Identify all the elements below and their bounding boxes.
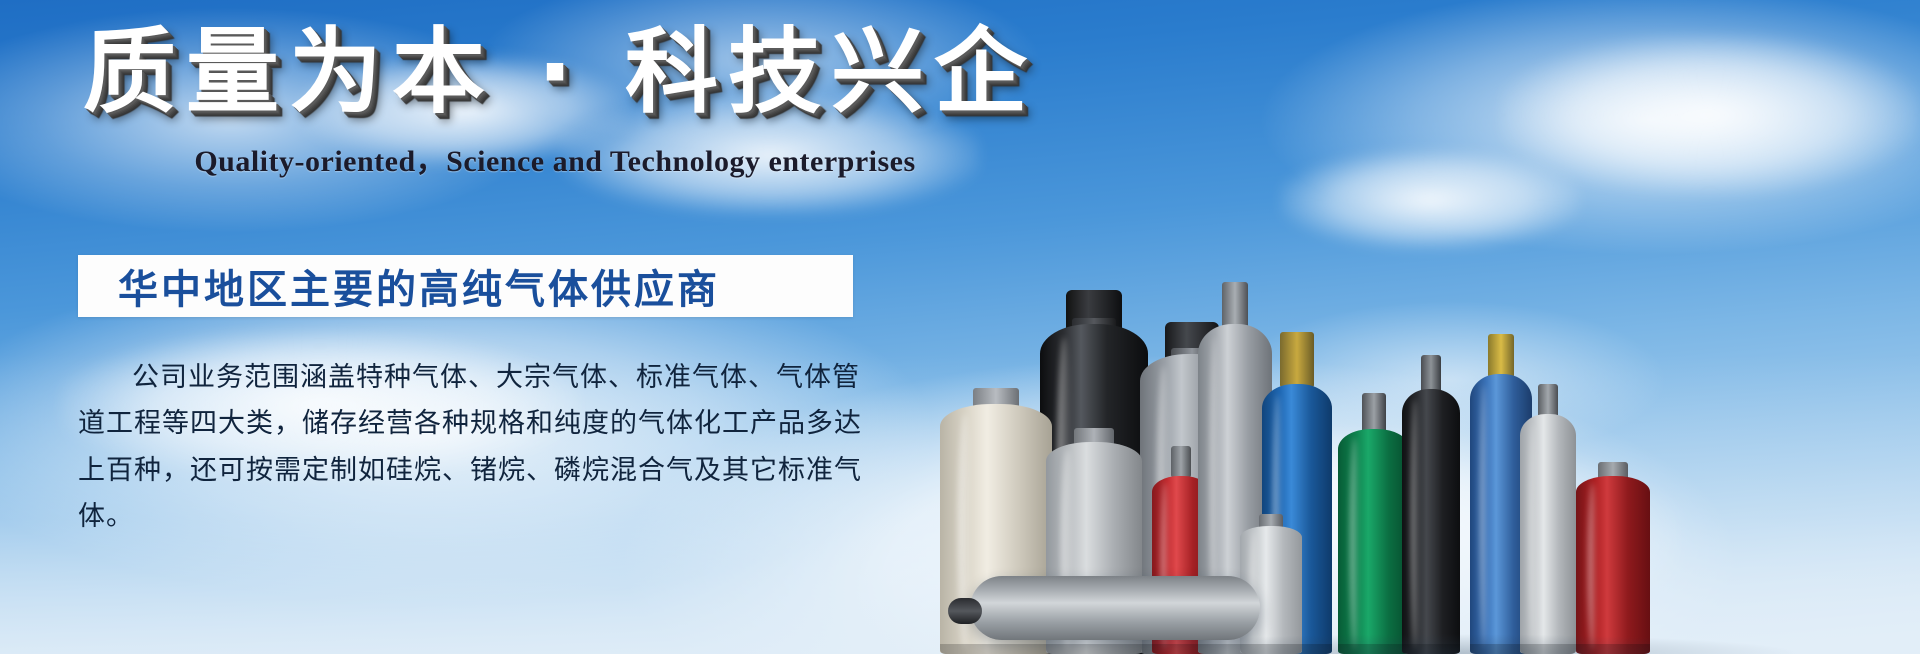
banner-headline: 质量为本 · 科技兴企 <box>0 24 1080 122</box>
body-copy: 公司业务范围涵盖特种气体、大宗气体、标准气体、气体管道工程等四大类，储存经营各种… <box>78 355 868 541</box>
body-paragraph: 公司业务范围涵盖特种气体、大宗气体、标准气体、气体管道工程等四大类，储存经营各种… <box>78 355 868 541</box>
banner-subtitle: Quality-oriented，Science and Technology … <box>0 136 1080 180</box>
tagline-text: 华中地区主要的高纯气体供应商 <box>78 257 720 315</box>
tagline-box: 华中地区主要的高纯气体供应商 <box>78 255 853 317</box>
product-ground-shadow <box>940 614 1920 654</box>
banner-text-content: 质量为本 · 科技兴企 Quality-oriented，Science and… <box>0 0 1080 654</box>
gas-cylinder-product-photo <box>940 0 1920 654</box>
